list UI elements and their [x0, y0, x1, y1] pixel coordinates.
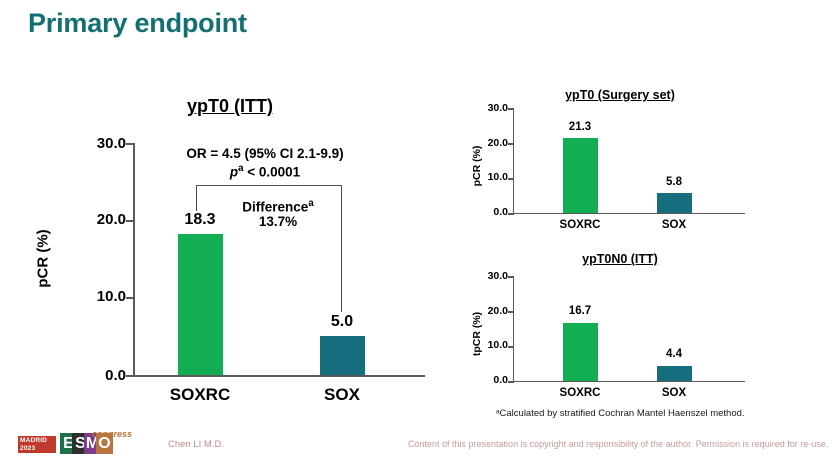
logo-year: 2023 — [20, 445, 56, 453]
logo-congress-word: congress — [92, 429, 132, 439]
y-tick-mark — [126, 297, 134, 299]
bar-soxrc — [563, 138, 598, 213]
difference-label-text: Difference — [242, 200, 308, 215]
difference-superscript: a — [308, 198, 313, 209]
y-tick-label: 0.0 — [70, 367, 126, 384]
bar-sox — [657, 366, 692, 381]
x-axis-line — [133, 375, 425, 377]
y-tick-label: 10.0 — [468, 171, 508, 183]
bar-value-soxrc: 21.3 — [550, 121, 610, 133]
x-tick-label-sox: SOX — [629, 219, 719, 231]
y-tick-mark — [508, 108, 514, 110]
y-tick-label: 30.0 — [468, 270, 508, 282]
y-tick-label: 20.0 — [468, 305, 508, 317]
bar-soxrc — [563, 323, 598, 382]
bracket-left-line — [196, 185, 197, 211]
bar-sox — [320, 336, 365, 375]
y-tick-mark — [508, 178, 514, 180]
y-tick-label: 30.0 — [468, 102, 508, 114]
p-value-annotation: pa < 0.0001 — [170, 163, 360, 180]
bar-value-sox: 4.4 — [644, 348, 704, 360]
y-tick-mark — [508, 381, 514, 383]
bracket-right-line — [341, 185, 342, 312]
esmo-congress-logo: MADRID 2023 E S M O congress — [18, 430, 143, 456]
p-value-italic: p — [230, 165, 238, 180]
bar-value-soxrc: 16.7 — [550, 305, 610, 317]
y-tick-label: 0.0 — [468, 206, 508, 218]
y-tick-label: 30.0 — [70, 135, 126, 152]
y-tick-mark — [126, 143, 134, 145]
chart-title: ypT0 (ITT) — [150, 96, 310, 117]
bar-soxrc — [178, 234, 223, 376]
chart-ypt0n0-itt: ypT0N0 (ITT) tpCR (%) 30.0 20.0 10.0 0.0… — [450, 248, 832, 413]
y-axis-label: pCR (%) — [35, 224, 52, 294]
copyright-notice: Content of this presentation is copyrigh… — [408, 439, 828, 449]
x-tick-label-soxrc: SOXRC — [140, 385, 260, 405]
y-axis-line — [513, 276, 514, 382]
x-tick-label-sox: SOX — [282, 385, 402, 405]
chart-title: ypT0 (Surgery set) — [525, 88, 715, 102]
bar-sox — [657, 193, 692, 213]
y-tick-mark — [508, 346, 514, 348]
madrid-2023-badge: MADRID 2023 — [18, 436, 56, 453]
difference-label: Differencea — [218, 198, 338, 215]
y-tick-mark — [126, 220, 134, 222]
y-tick-mark — [126, 375, 134, 377]
footnote: ᵃCalculated by stratified Cochran Mantel… — [496, 408, 745, 419]
y-tick-mark — [508, 143, 514, 145]
chart-ypt0-itt: ypT0 (ITT) pCR (%) 30.0 20.0 10.0 0.0 18… — [0, 0, 450, 420]
y-tick-label: 0.0 — [468, 374, 508, 386]
y-tick-mark — [508, 276, 514, 278]
x-tick-label-soxrc: SOXRC — [535, 387, 625, 399]
odds-ratio-annotation: OR = 4.5 (95% CI 2.1-9.9) — [170, 146, 360, 161]
x-axis-line — [513, 381, 745, 382]
p-value-text: < 0.0001 — [243, 165, 300, 180]
logo-city: MADRID — [20, 437, 56, 445]
bar-value-sox: 5.8 — [644, 176, 704, 188]
y-tick-label: 10.0 — [70, 288, 126, 305]
chart-title: ypT0N0 (ITT) — [525, 252, 715, 266]
y-tick-mark — [508, 213, 514, 215]
y-axis-line — [133, 143, 135, 376]
y-axis-line — [513, 108, 514, 214]
bracket-top-line — [196, 185, 342, 186]
x-tick-label-soxrc: SOXRC — [535, 219, 625, 231]
x-axis-line — [513, 213, 745, 214]
y-tick-label: 20.0 — [468, 137, 508, 149]
y-tick-label: 10.0 — [468, 339, 508, 351]
presenter-name: Chen LI M.D. — [168, 439, 224, 450]
difference-value: 13.7% — [218, 214, 338, 229]
chart-ypt0-surgery-set: ypT0 (Surgery set) pCR (%) 30.0 20.0 10.… — [450, 80, 832, 240]
y-tick-mark — [508, 311, 514, 313]
y-tick-label: 20.0 — [70, 211, 126, 228]
x-tick-label-sox: SOX — [629, 387, 719, 399]
bar-value-sox: 5.0 — [307, 313, 377, 331]
